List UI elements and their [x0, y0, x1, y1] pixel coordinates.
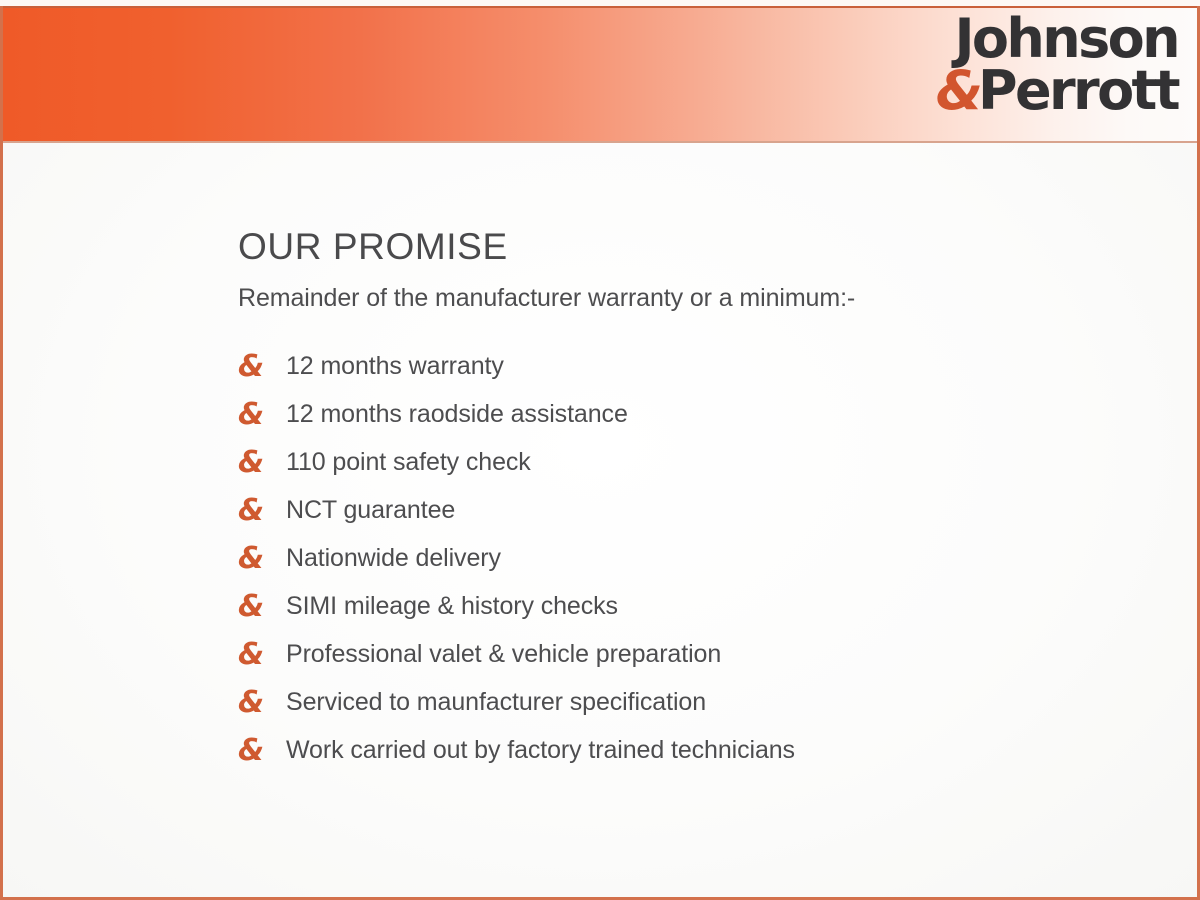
brand-logo: Johnson &Perrott [936, 14, 1178, 115]
promise-poster: Johnson &Perrott OUR PROMISE Remainder o… [0, 0, 1200, 900]
subtitle: Remainder of the manufacturer warranty o… [238, 285, 1158, 313]
list-item: & 12 months warranty [238, 343, 1158, 391]
list-item-label: 12 months raodside assistance [286, 401, 1158, 429]
list-item-label: 12 months warranty [286, 353, 1158, 381]
banner-bottom-rule [0, 141, 1200, 143]
list-item: & SIMI mileage & history checks [238, 583, 1158, 631]
ampersand-bullet-icon: & [238, 352, 286, 382]
frame-border-left [0, 6, 3, 900]
list-item-label: Serviced to maunfacturer specification [286, 689, 1158, 717]
ampersand-bullet-icon: & [238, 448, 286, 478]
ampersand-bullet-icon: & [238, 688, 286, 718]
page-title: OUR PROMISE [238, 228, 1158, 265]
promise-list: & 12 months warranty & 12 months raodsid… [238, 343, 1158, 775]
list-item: & Professional valet & vehicle preparati… [238, 631, 1158, 679]
list-item-label: 110 point safety check [286, 449, 1158, 477]
ampersand-bullet-icon: & [238, 592, 286, 622]
list-item: & 12 months raodside assistance [238, 391, 1158, 439]
list-item-label: Professional valet & vehicle preparation [286, 641, 1158, 669]
list-item-label: Nationwide delivery [286, 545, 1158, 573]
brand-logo-line2: &Perrott [936, 66, 1178, 116]
ampersand-icon: & [936, 59, 976, 122]
list-item: & Work carried out by factory trained te… [238, 727, 1158, 775]
list-item: & Serviced to maunfacturer specification [238, 679, 1158, 727]
brand-logo-line2-text: Perrott [978, 59, 1178, 122]
list-item-label: Work carried out by factory trained tech… [286, 737, 1158, 765]
ampersand-bullet-icon: & [238, 544, 286, 574]
brand-logo-line1: Johnson [936, 14, 1178, 64]
ampersand-bullet-icon: & [238, 496, 286, 526]
ampersand-bullet-icon: & [238, 640, 286, 670]
list-item: & NCT guarantee [238, 487, 1158, 535]
ampersand-bullet-icon: & [238, 400, 286, 430]
ampersand-bullet-icon: & [238, 736, 286, 766]
list-item: & Nationwide delivery [238, 535, 1158, 583]
list-item: & 110 point safety check [238, 439, 1158, 487]
content-block: OUR PROMISE Remainder of the manufacture… [238, 228, 1158, 775]
list-item-label: SIMI mileage & history checks [286, 593, 1158, 621]
list-item-label: NCT guarantee [286, 497, 1158, 525]
